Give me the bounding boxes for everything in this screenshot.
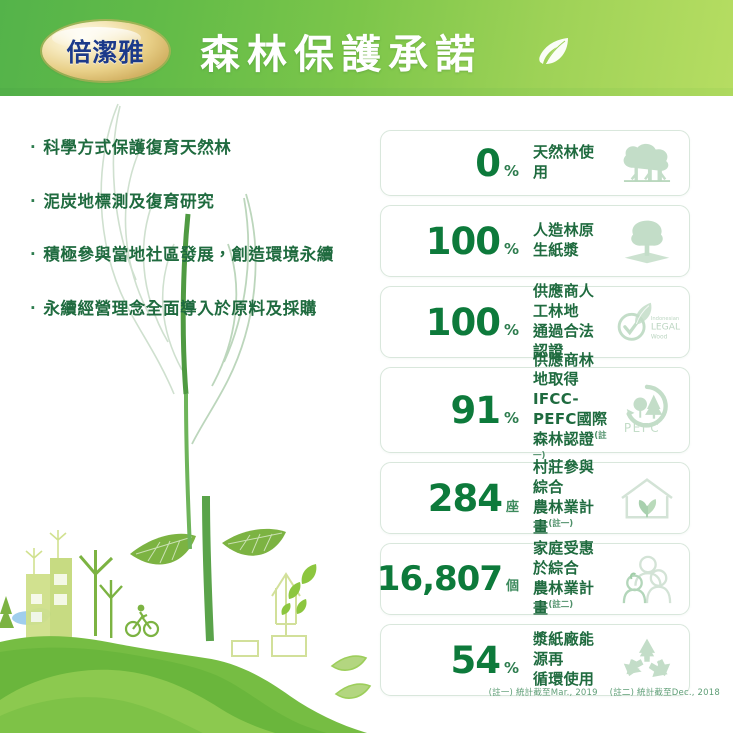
footnote-item: (註二) 統計截至Dec., 2018 [610, 688, 720, 698]
footnote-row: (註一) 統計截至Mar., 2019 (註二) 統計截至Dec., 2018 [380, 686, 726, 698]
bullet-item: · 永續經營理念全面導入於原料及採購 [30, 299, 378, 320]
infographic-page: 倍潔雅 森林保護承諾 [0, 0, 733, 733]
stat-number-block: 100 % [381, 223, 523, 260]
stat-desc-text: 農林業計畫 [533, 498, 594, 536]
stat-card-pefc-certification: 91 % 供應商林地取得 IFCC-PEFC國際 森林認證(註一) [380, 367, 690, 453]
eco-buildings [26, 530, 72, 640]
stat-description: 供應商林地取得 IFCC-PEFC國際 森林認證(註一) [523, 351, 609, 470]
stat-number-block: 91 % [381, 392, 523, 429]
stat-desc-line: 漿紙廠能源再 [533, 630, 609, 670]
page-header: 倍潔雅 森林保護承諾 [0, 0, 733, 96]
stat-desc-line: 供應商林地取得 [533, 351, 609, 391]
logo-text: 倍潔雅 [42, 21, 169, 81]
bullet-item: · 泥炭地標測及復育研究 [30, 192, 378, 213]
bullet-text: 科學方式保護復育天然林 [43, 138, 231, 159]
stat-description: 人造林原生紙漿 [523, 221, 609, 261]
stat-desc-line: 家庭受惠於綜合 [533, 539, 609, 579]
stat-unit: % [504, 321, 519, 339]
stat-card-plantation-pulp: 100 % 人造林原生紙漿 [380, 205, 690, 277]
family-group-icon [609, 544, 689, 614]
svg-text:PEFC: PEFC [624, 421, 660, 435]
house-with-leaves-icon [609, 463, 689, 533]
stat-unit: % [504, 162, 519, 180]
bullet-list: · 科學方式保護復育天然林 · 泥炭地標測及復育研究 · 積極參與當地社區發展，… [30, 138, 378, 353]
stat-card-list: 0 % 天然林使用 100 % [380, 130, 720, 705]
brand-logo: 倍潔雅 [42, 21, 169, 81]
stat-number: 100 [426, 223, 500, 260]
bullet-text: 積極參與當地社區發展，創造環境永續 [43, 245, 334, 266]
stat-desc-line-with-note: 農林業計畫(註一) [533, 498, 609, 538]
stat-card-families-benefited: 16,807 個 家庭受惠於綜合 農林業計畫(註二) [380, 543, 690, 615]
stat-number: 100 [426, 304, 500, 341]
stat-number: 91 [450, 392, 500, 429]
stat-desc-text: 森林認證 [533, 430, 594, 448]
svg-text:Indonesian: Indonesian [651, 316, 679, 322]
cyclist-icon [126, 605, 158, 636]
pefc-logo-icon: PEFC [609, 368, 689, 452]
svg-text:LEGAL: LEGAL [651, 323, 681, 333]
stat-description: 漿紙廠能源再 循環使用 [523, 630, 609, 689]
stat-description: 村莊參與綜合 農林業計畫(註一) [523, 458, 609, 537]
stat-desc-line: 天然林使用 [533, 143, 609, 183]
leaf-sprigs-right [332, 656, 370, 698]
stat-card-legal-certification: 100 % 供應商人工林地 通過合法認證 Indonesian LEGAL Wo… [380, 286, 690, 358]
bullet-marker: · [30, 299, 36, 318]
stat-desc-line-with-note: 農林業計畫(註二) [533, 579, 609, 619]
stat-description: 家庭受惠於綜合 農林業計畫(註二) [523, 539, 609, 618]
left-panel: · 科學方式保護復育天然林 · 泥炭地標測及復育研究 · 積極參與當地社區發展，… [0, 96, 378, 733]
indonesian-legal-wood-icon: Indonesian LEGAL Wood [609, 287, 689, 357]
bullet-marker: · [30, 192, 36, 211]
stat-number: 54 [450, 642, 500, 679]
stat-desc-line: 村莊參與綜合 [533, 458, 609, 498]
recycle-icon [609, 625, 689, 695]
stat-unit: % [504, 659, 519, 677]
stat-unit: 個 [506, 575, 519, 594]
stat-number: 0 [475, 145, 500, 182]
page-title: 森林保護承諾 [200, 22, 482, 80]
bullet-text: 永續經營理念全面導入於原料及採購 [43, 299, 317, 320]
stat-note-marker: (註一) [548, 519, 573, 529]
stat-number-block: 284 座 [381, 480, 523, 517]
stat-unit: % [504, 409, 519, 427]
bullet-item: · 積極參與當地社區發展，創造環境永續 [30, 245, 378, 266]
stat-card-natural-forest-use: 0 % 天然林使用 [380, 130, 690, 196]
stat-number-block: 0 % [381, 145, 523, 182]
stat-card-villages-agroforestry: 284 座 村莊參與綜合 農林業計畫(註一) [380, 462, 690, 534]
bullet-marker: · [30, 245, 36, 264]
forest-trees-icon [609, 131, 689, 195]
single-tree-icon [609, 206, 689, 276]
stat-unit: 座 [506, 496, 519, 515]
stat-note-marker: (註二) [548, 600, 573, 610]
bullet-marker: · [30, 138, 36, 157]
wind-turbines [80, 550, 122, 638]
footnote-item: (註一) 統計截至Mar., 2019 [489, 688, 598, 698]
pine-tree [0, 596, 14, 628]
stat-desc-line: 人造林原生紙漿 [533, 221, 609, 261]
stat-number-block: 16,807 個 [381, 562, 523, 596]
stat-desc-line: 供應商人工林地 [533, 282, 609, 322]
stat-number: 16,807 [377, 562, 502, 596]
svg-text:Wood: Wood [651, 333, 668, 340]
stat-desc-text: 農林業計畫 [533, 579, 594, 617]
stat-number-block: 54 % [381, 642, 523, 679]
stat-desc-line: IFCC-PEFC國際 [533, 390, 609, 430]
stat-number-block: 100 % [381, 304, 523, 341]
bullet-item: · 科學方式保護復育天然林 [30, 138, 378, 159]
stat-number: 284 [428, 480, 502, 517]
stat-description: 天然林使用 [523, 143, 609, 183]
bullet-text: 泥炭地標測及復育研究 [43, 192, 214, 213]
stat-unit: % [504, 240, 519, 258]
leaf-icon [535, 36, 571, 66]
